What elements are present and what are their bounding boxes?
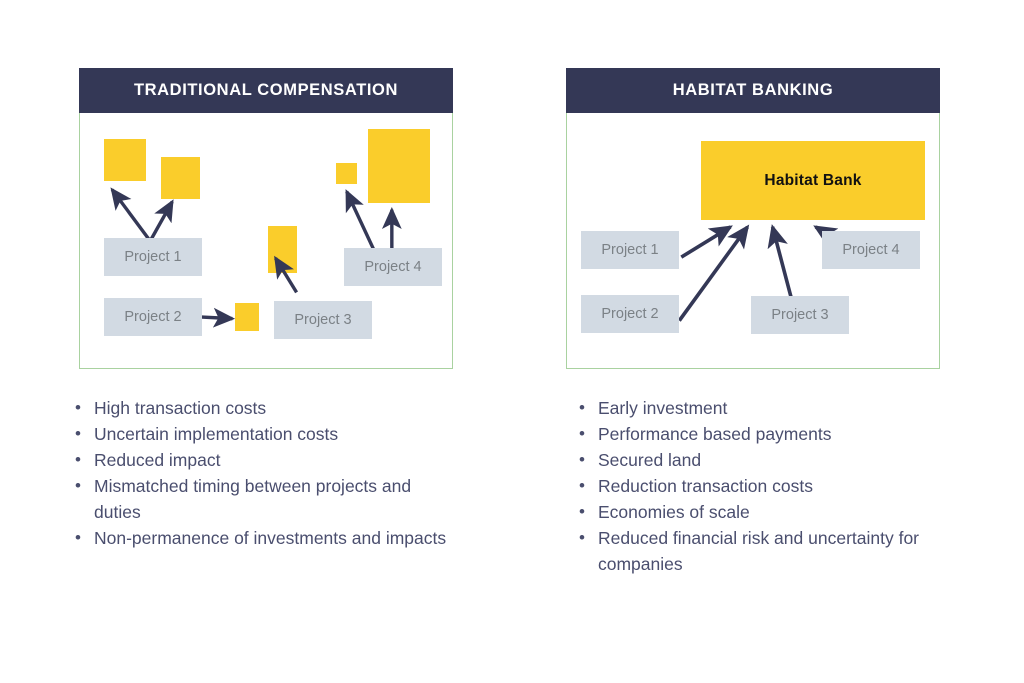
list-item: Reduced financial risk and uncertainty f… [576, 526, 966, 577]
list-item: Reduction transaction costs [576, 474, 966, 500]
project-label: Project 3 [294, 312, 351, 328]
list-item: Uncertain implementation costs [72, 422, 462, 448]
panel-body-traditional-compensation: Project 1 Project 2 Project 3 Project 4 [79, 113, 453, 369]
list-item: High transaction costs [72, 396, 462, 422]
project-label: Project 2 [601, 306, 658, 322]
project-box-habitat-1[interactable]: Project 1 [581, 231, 679, 269]
project-box-traditional-3[interactable]: Project 3 [274, 301, 372, 339]
arrow-project1-to-patch1b [150, 202, 172, 241]
project-box-traditional-1[interactable]: Project 1 [104, 238, 202, 276]
project-label: Project 4 [364, 259, 421, 275]
project-box-traditional-4[interactable]: Project 4 [344, 248, 442, 286]
list-item: Early investment [576, 396, 966, 422]
list-item: Mismatched timing between projects and d… [72, 474, 462, 525]
list-item: Reduced impact [72, 448, 462, 474]
bullet-list-traditional: High transaction costs Uncertain impleme… [72, 396, 462, 552]
list-item: Non-permanence of investments and impact… [72, 526, 462, 552]
list-item: Performance based payments [576, 422, 966, 448]
project-box-habitat-2[interactable]: Project 2 [581, 295, 679, 333]
project-label: Project 1 [124, 249, 181, 265]
panel-body-habitat-banking: Habitat Bank Project 1 Project 2 Project [566, 113, 940, 369]
project-label: Project 4 [842, 242, 899, 258]
bullet-list-habitat: Early investment Performance based payme… [576, 396, 966, 578]
arrow-project1-to-bank [681, 227, 730, 257]
panel-title-habitat-banking: HABITAT BANKING [566, 68, 940, 113]
project-box-habitat-4[interactable]: Project 4 [822, 231, 920, 269]
panel-traditional-compensation: TRADITIONAL COMPENSATION [79, 68, 453, 369]
panel-habitat-banking: HABITAT BANKING Habitat Bank Project 1 P… [566, 68, 940, 369]
panel-title-traditional-compensation: TRADITIONAL COMPENSATION [79, 68, 453, 113]
arrow-project3-to-patch3 [276, 258, 297, 292]
project-label: Project 2 [124, 309, 181, 325]
list-item: Secured land [576, 448, 966, 474]
arrow-project2-to-bank [679, 227, 747, 321]
arrow-project1-to-patch1a [112, 190, 150, 241]
list-item: Economies of scale [576, 500, 966, 526]
project-box-habitat-3[interactable]: Project 3 [751, 296, 849, 334]
project-label: Project 1 [601, 242, 658, 258]
project-label: Project 3 [771, 307, 828, 323]
project-box-traditional-2[interactable]: Project 2 [104, 298, 202, 336]
